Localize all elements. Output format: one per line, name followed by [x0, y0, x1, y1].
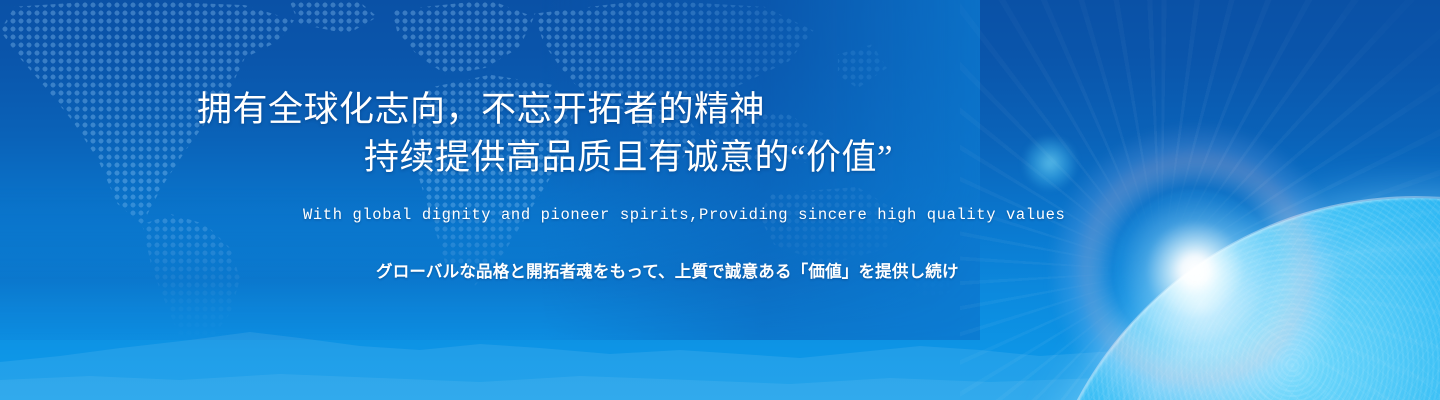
subline-japanese: グローバルな品格と開拓者魂をもって、上質で誠意ある「価値」を提供し続け [376, 258, 959, 282]
hero-banner: 拥有全球化志向，不忘开拓者的精神 持续提供高品质且有诚意的“价值” With g… [0, 0, 1440, 400]
headline-line-2: 持续提供高品质且有诚意的“价值” [364, 140, 893, 175]
banner-copy: 拥有全球化志向，不忘开拓者的精神 持续提供高品质且有诚意的“价值” With g… [0, 0, 1440, 400]
headline-line-1: 拥有全球化志向，不忘开拓者的精神 [197, 92, 765, 127]
subline-english: With global dignity and pioneer spirits,… [303, 206, 1065, 224]
